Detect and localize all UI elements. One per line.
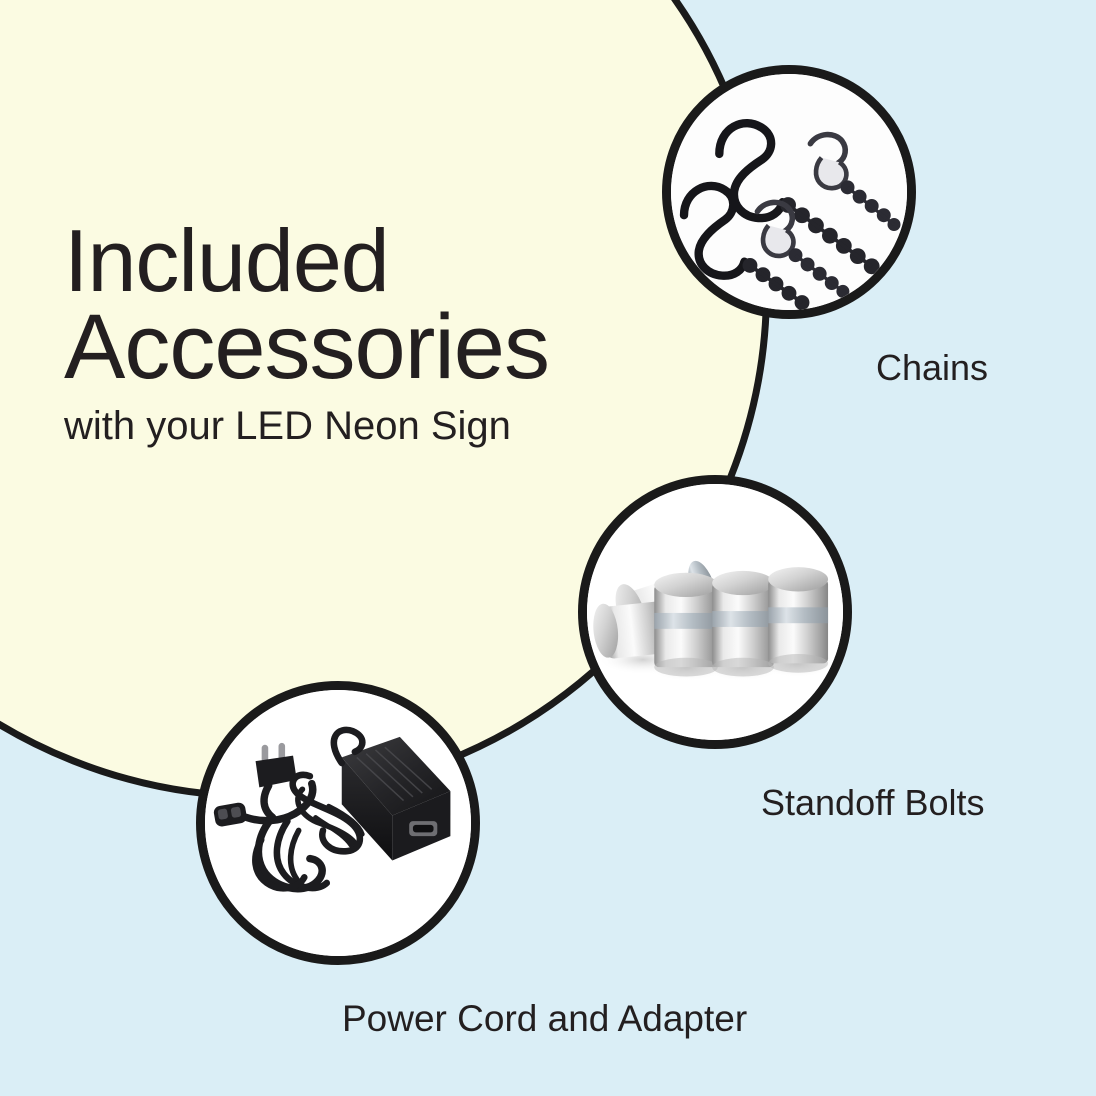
product-bubble-chains (662, 65, 916, 319)
caption-power-cord: Power Cord and Adapter (342, 1000, 747, 1037)
product-bubble-power-cord (196, 681, 480, 965)
chains-photo-icon (671, 74, 907, 310)
headline-subtitle: with your LED Neon Sign (64, 405, 724, 447)
standoff-bolts-photo-icon (587, 484, 843, 740)
product-bubble-standoff-bolts (578, 475, 852, 749)
infographic-canvas: Included Accessories with your LED Neon … (0, 0, 1096, 1096)
headline-line-2: Accessories (64, 303, 724, 392)
headline-line-1: Included (64, 218, 724, 303)
power-adapter-photo-icon (205, 690, 471, 956)
caption-chains: Chains (876, 350, 988, 386)
headline-block: Included Accessories with your LED Neon … (64, 218, 724, 447)
caption-standoff-bolts: Standoff Bolts (761, 785, 985, 821)
